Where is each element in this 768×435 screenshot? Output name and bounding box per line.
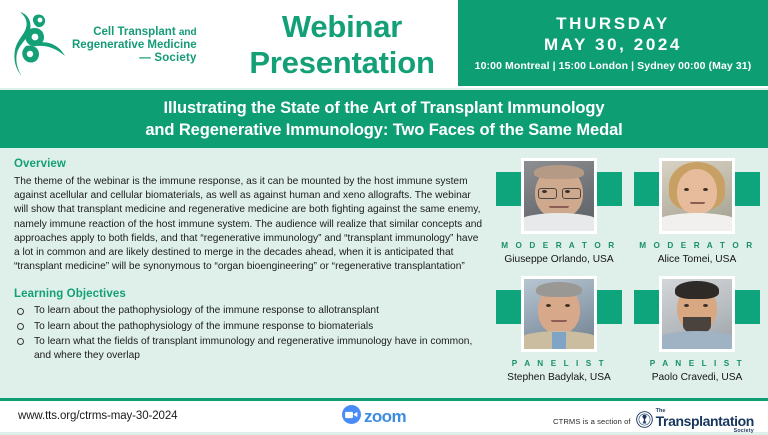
overview-body: The theme of the webinar is the immune r… xyxy=(14,175,484,274)
event-day-of-week: THURSDAY xyxy=(556,13,670,34)
event-date: MAY 30, 2024 xyxy=(544,34,682,55)
learning-objectives-list: To learn about the pathophysiology of th… xyxy=(14,304,484,363)
transplantation-society-logo: The Transplantation Society xyxy=(636,408,754,435)
session-title-band: Illustrating the State of the Art of Tra… xyxy=(0,90,768,148)
speaker-name: Giuseppe Orlando, USA xyxy=(496,253,622,266)
event-date-block: THURSDAY MAY 30, 2024 10:00 Montreal | 1… xyxy=(458,0,768,86)
avatar xyxy=(521,276,597,352)
speaker-name: Alice Tomei, USA xyxy=(634,253,760,266)
registration-url[interactable]: www.tts.org/ctrms-may-30-2024 xyxy=(18,410,177,422)
avatar xyxy=(659,158,735,234)
circle-bullet-icon xyxy=(17,338,24,345)
speakers-row-moderators: M O D E R A T O R Giuseppe Orlando, USA xyxy=(496,158,760,276)
webinar-presentation-title: Webinar Presentation xyxy=(236,6,448,84)
speakers-row-panelists: P A N E L I S T Stephen Badylak, USA xyxy=(496,276,760,394)
zoom-wordmark: zoom xyxy=(364,408,406,426)
portrait-stephen-badylak xyxy=(524,279,594,349)
webinar-poster: Cell Transplant and Regenerative Medicin… xyxy=(0,0,768,432)
speaker-card-paolo-cravedi: P A N E L I S T Paolo Cravedi, USA xyxy=(634,276,760,394)
tts-section-note: CTRMS is a section of The Transplantatio… xyxy=(553,408,754,435)
ctrms-logo-text: Cell Transplant and Regenerative Medicin… xyxy=(72,23,197,65)
list-item: To learn about the pathophysiology of th… xyxy=(14,320,484,334)
speaker-name: Stephen Badylak, USA xyxy=(496,371,622,384)
portrait-giuseppe-orlando xyxy=(524,161,594,231)
ctrms-logo: Cell Transplant and Regenerative Medicin… xyxy=(14,8,229,80)
speaker-name: Paolo Cravedi, USA xyxy=(634,371,760,384)
zoom-logo: zoom xyxy=(342,407,406,427)
poster-footer: www.tts.org/ctrms-may-30-2024 zoom CTRMS… xyxy=(0,401,768,432)
list-item: To learn about the pathophysiology of th… xyxy=(14,304,484,318)
avatar xyxy=(521,158,597,234)
logo-line-3: — Society xyxy=(72,52,197,65)
webinar-title-line-1: Webinar xyxy=(282,9,402,45)
avatar xyxy=(659,276,735,352)
ctrms-cell-logo-icon xyxy=(14,10,66,78)
circle-bullet-icon xyxy=(17,323,24,330)
logo-line-1-small: and xyxy=(179,27,197,38)
speaker-role: M O D E R A T O R xyxy=(496,241,622,250)
session-title-line-1: Illustrating the State of the Art of Tra… xyxy=(164,97,605,119)
learning-objectives-heading: Learning Objectives xyxy=(14,288,484,300)
portrait-alice-tomei xyxy=(662,161,732,231)
overview-heading: Overview xyxy=(14,158,484,170)
portrait-paolo-cravedi xyxy=(662,279,732,349)
speaker-card-giuseppe-orlando: M O D E R A T O R Giuseppe Orlando, USA xyxy=(496,158,622,276)
session-title-line-2: and Regenerative Immunology: Two Faces o… xyxy=(145,119,622,141)
speakers-panel: M O D E R A T O R Giuseppe Orlando, USA xyxy=(496,158,760,398)
zoom-camera-icon xyxy=(342,405,361,429)
speaker-role: P A N E L I S T xyxy=(496,359,622,368)
circle-bullet-icon xyxy=(17,308,24,315)
tts-main: Transplantation xyxy=(656,414,754,428)
logo-line-2: Regenerative Medicine xyxy=(72,39,197,52)
event-timezones: 10:00 Montreal | 15:00 London | Sydney 0… xyxy=(475,60,752,73)
logo-line-1: Cell Transplant xyxy=(93,26,175,38)
tts-wordmark: The Transplantation Society xyxy=(656,408,754,435)
tts-emblem-icon xyxy=(636,411,653,433)
speaker-role: M O D E R A T O R xyxy=(634,241,760,250)
section-of-label: CTRMS is a section of xyxy=(553,417,631,426)
poster-header: Cell Transplant and Regenerative Medicin… xyxy=(0,0,768,88)
speaker-role: P A N E L I S T xyxy=(634,359,760,368)
speaker-card-stephen-badylak: P A N E L I S T Stephen Badylak, USA xyxy=(496,276,622,394)
list-item: To learn what the fields of transplant i… xyxy=(14,335,484,363)
webinar-title-line-2: Presentation xyxy=(249,45,434,81)
speaker-card-alice-tomei: M O D E R A T O R Alice Tomei, USA xyxy=(634,158,760,276)
left-content-column: Overview The theme of the webinar is the… xyxy=(14,158,484,364)
